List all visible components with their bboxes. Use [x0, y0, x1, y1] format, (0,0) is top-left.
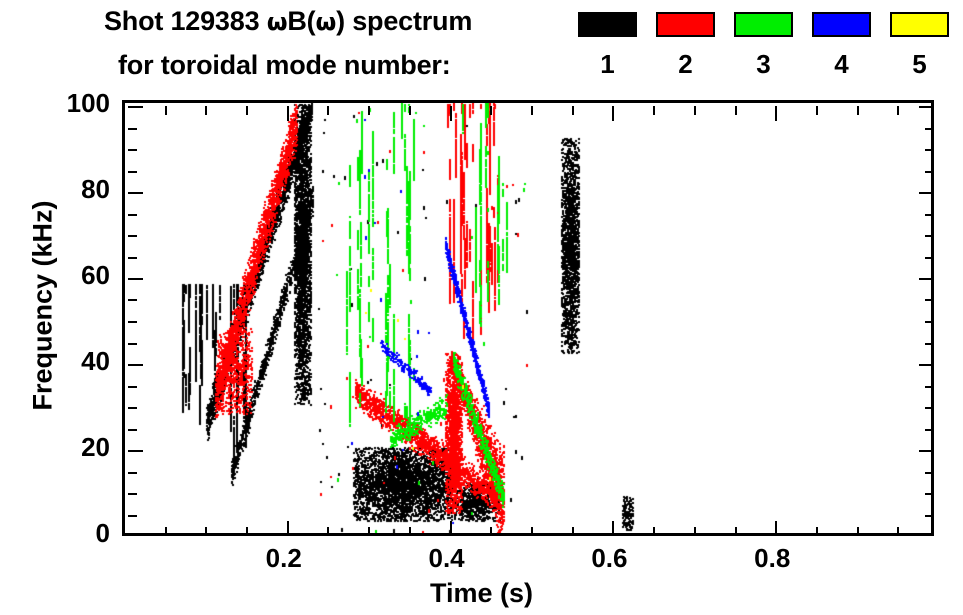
x-tick-label: 0.8	[754, 545, 790, 571]
spectrogram-figure: Shot 129383 ωB(ω) spectrum for toroidal …	[0, 0, 963, 615]
x-tick-label: 0.2	[266, 545, 302, 571]
x-tick-label: 0.4	[429, 545, 465, 571]
x-axis-title: Time (s)	[0, 578, 963, 609]
x-tick-label: 0.6	[591, 545, 627, 571]
y-axis-title: Frequency (kHz)	[28, 156, 59, 456]
x-axis-tick-labels: 0.20.40.60.8	[0, 0, 963, 615]
